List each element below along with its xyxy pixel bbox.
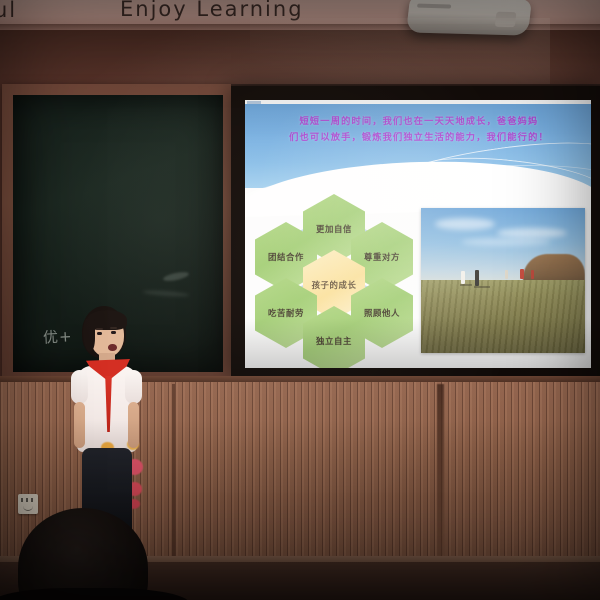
photo-person	[520, 269, 524, 279]
wainscot-seam	[172, 384, 175, 556]
student-eye	[97, 332, 102, 335]
slide-title-line-1: 短短一周的时间，我们也在一天天地成长，爸爸妈妈	[261, 114, 577, 130]
slide-title: 短短一周的时间，我们也在一天天地成长，爸爸妈妈 们也可以放手，锻炼我们独立生活的…	[261, 114, 577, 146]
student-figure	[66, 306, 146, 536]
hexagon-diagram: 更加自信 团结合作 尊重对方 孩子的成长 吃苦耐劳 照顾他人 独立自主	[249, 192, 419, 364]
outlet-lower-slot	[23, 505, 33, 511]
photo-person-shadow	[460, 284, 472, 286]
classroom-photo-scene: ul Enjoy Learning 优+	[0, 0, 600, 600]
photo-person	[531, 270, 534, 279]
student-hair-side	[83, 318, 95, 352]
wainscot-seam	[437, 384, 444, 556]
photo-person	[461, 271, 465, 284]
student-sleeve	[125, 370, 142, 404]
photo-person	[505, 270, 508, 279]
photo-person	[475, 270, 479, 286]
power-outlet-icon	[18, 494, 38, 514]
student-arm	[128, 402, 139, 448]
student-eye	[111, 331, 116, 334]
projector-icon	[406, 0, 532, 36]
photo-cloud	[461, 238, 551, 246]
chalk-smudge-secondary	[143, 289, 189, 297]
slide-photo	[421, 208, 585, 353]
student-eyebrow	[96, 328, 103, 330]
projector-vent	[417, 4, 451, 9]
chalk-smudge	[163, 270, 190, 282]
wall-banner-partial-word: ul	[0, 0, 17, 22]
photo-cloud	[435, 218, 495, 230]
photo-field	[421, 280, 585, 353]
wall-banner-main-text: Enjoy Learning	[120, 0, 304, 21]
projector-lens	[495, 12, 517, 28]
photo-cloud	[497, 228, 567, 238]
slide-title-line-2: 们也可以放手，锻炼我们独立生活的能力，我们能行的！	[261, 130, 577, 146]
student-mouth	[108, 344, 117, 351]
student-eyebrow	[110, 327, 117, 329]
outlet-slots	[21, 498, 35, 502]
presentation-slide: 短短一周的时间，我们也在一天天地成长，爸爸妈妈 们也可以放手，锻炼我们独立生活的…	[245, 100, 591, 368]
photo-person-shadow	[474, 286, 490, 288]
student-arm	[74, 402, 85, 448]
projection-screen: 短短一周的时间，我们也在一天天地成长，爸爸妈妈 们也可以放手，锻炼我们独立生活的…	[231, 86, 600, 376]
student-sleeve	[71, 370, 88, 404]
